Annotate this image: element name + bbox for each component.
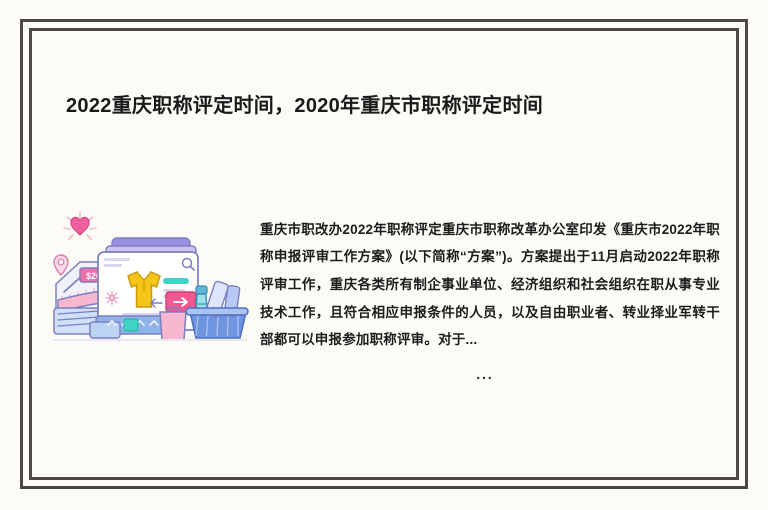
article-ellipsis: ... <box>250 367 720 382</box>
article-body: 重庆市职改办2022年职称评定重庆市职称改革办公室印发《重庆市2022年职称申报… <box>260 204 720 354</box>
location-pin-icon <box>54 255 68 275</box>
page-title: 2022重庆职称评定时间，2020年重庆市职称评定时间 <box>66 93 706 119</box>
shopping-bag <box>160 307 186 340</box>
flower-doodle <box>105 291 119 305</box>
online-shopping-illustration: .ol { fill:none; stroke:#7b7fc0; stroke-… <box>50 200 250 350</box>
heart-sparkle-icon <box>64 212 96 239</box>
article-content-row: .ol { fill:none; stroke:#7b7fc0; stroke-… <box>50 190 720 420</box>
article-text-block: 重庆市职改办2022年职称评定重庆市职称改革办公室印发《重庆市2022年职称申报… <box>250 190 720 382</box>
page-root: 2022重庆职称评定时间，2020年重庆市职称评定时间 .ol { fill:n… <box>0 0 768 510</box>
